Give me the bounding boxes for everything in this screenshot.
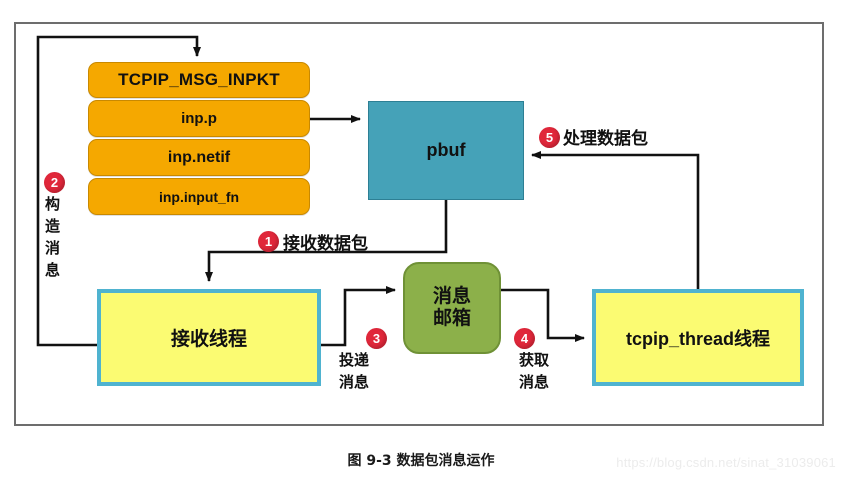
watermark-text: https://blog.csdn.net/sinat_31039061 [616,455,836,470]
stack-field-inp-p: inp.p [88,100,310,137]
step-label-3-line1: 投递 [339,352,369,369]
node-message-mailbox: 消息 邮箱 [403,262,501,354]
tcpip-thread-label: tcpip_thread线程 [626,325,770,351]
stack-field-name: TCPIP_MSG_INPKT [88,62,310,98]
receive-thread-label: 接收线程 [171,324,247,351]
node-tcpip-thread: tcpip_thread线程 [592,289,804,386]
step-badge-1: 1 [258,231,279,252]
step-badge-5: 5 [539,127,560,148]
step-label-3-line2: 消息 [339,374,369,391]
step-label-2-char-4: 息 [45,262,60,279]
message-struct-stack: TCPIP_MSG_INPKT inp.p inp.netif inp.inpu… [88,62,310,217]
mailbox-label-line1: 消息 [433,286,471,308]
node-pbuf-label: pbuf [427,140,466,161]
step-label-4-line2: 消息 [519,374,549,391]
step-badge-2: 2 [44,172,65,193]
step-label-2-char-1: 构 [45,196,60,213]
step-badge-3: 3 [366,328,387,349]
stack-field-inp-input-fn: inp.input_fn [88,178,310,215]
mailbox-label-line2: 邮箱 [433,308,471,330]
step-label-4-line1: 获取 [519,352,549,369]
step-label-1: 接收数据包 [283,229,368,254]
step-badge-4: 4 [514,328,535,349]
figure-canvas: TCPIP_MSG_INPKT inp.p inp.netif inp.inpu… [0,0,842,484]
node-receive-thread: 接收线程 [97,289,321,386]
step-label-2-char-3: 消 [45,240,60,257]
node-pbuf: pbuf [368,101,524,200]
step-label-2-char-2: 造 [45,218,60,235]
step-label-5: 处理数据包 [563,124,648,149]
stack-field-inp-netif: inp.netif [88,139,310,176]
